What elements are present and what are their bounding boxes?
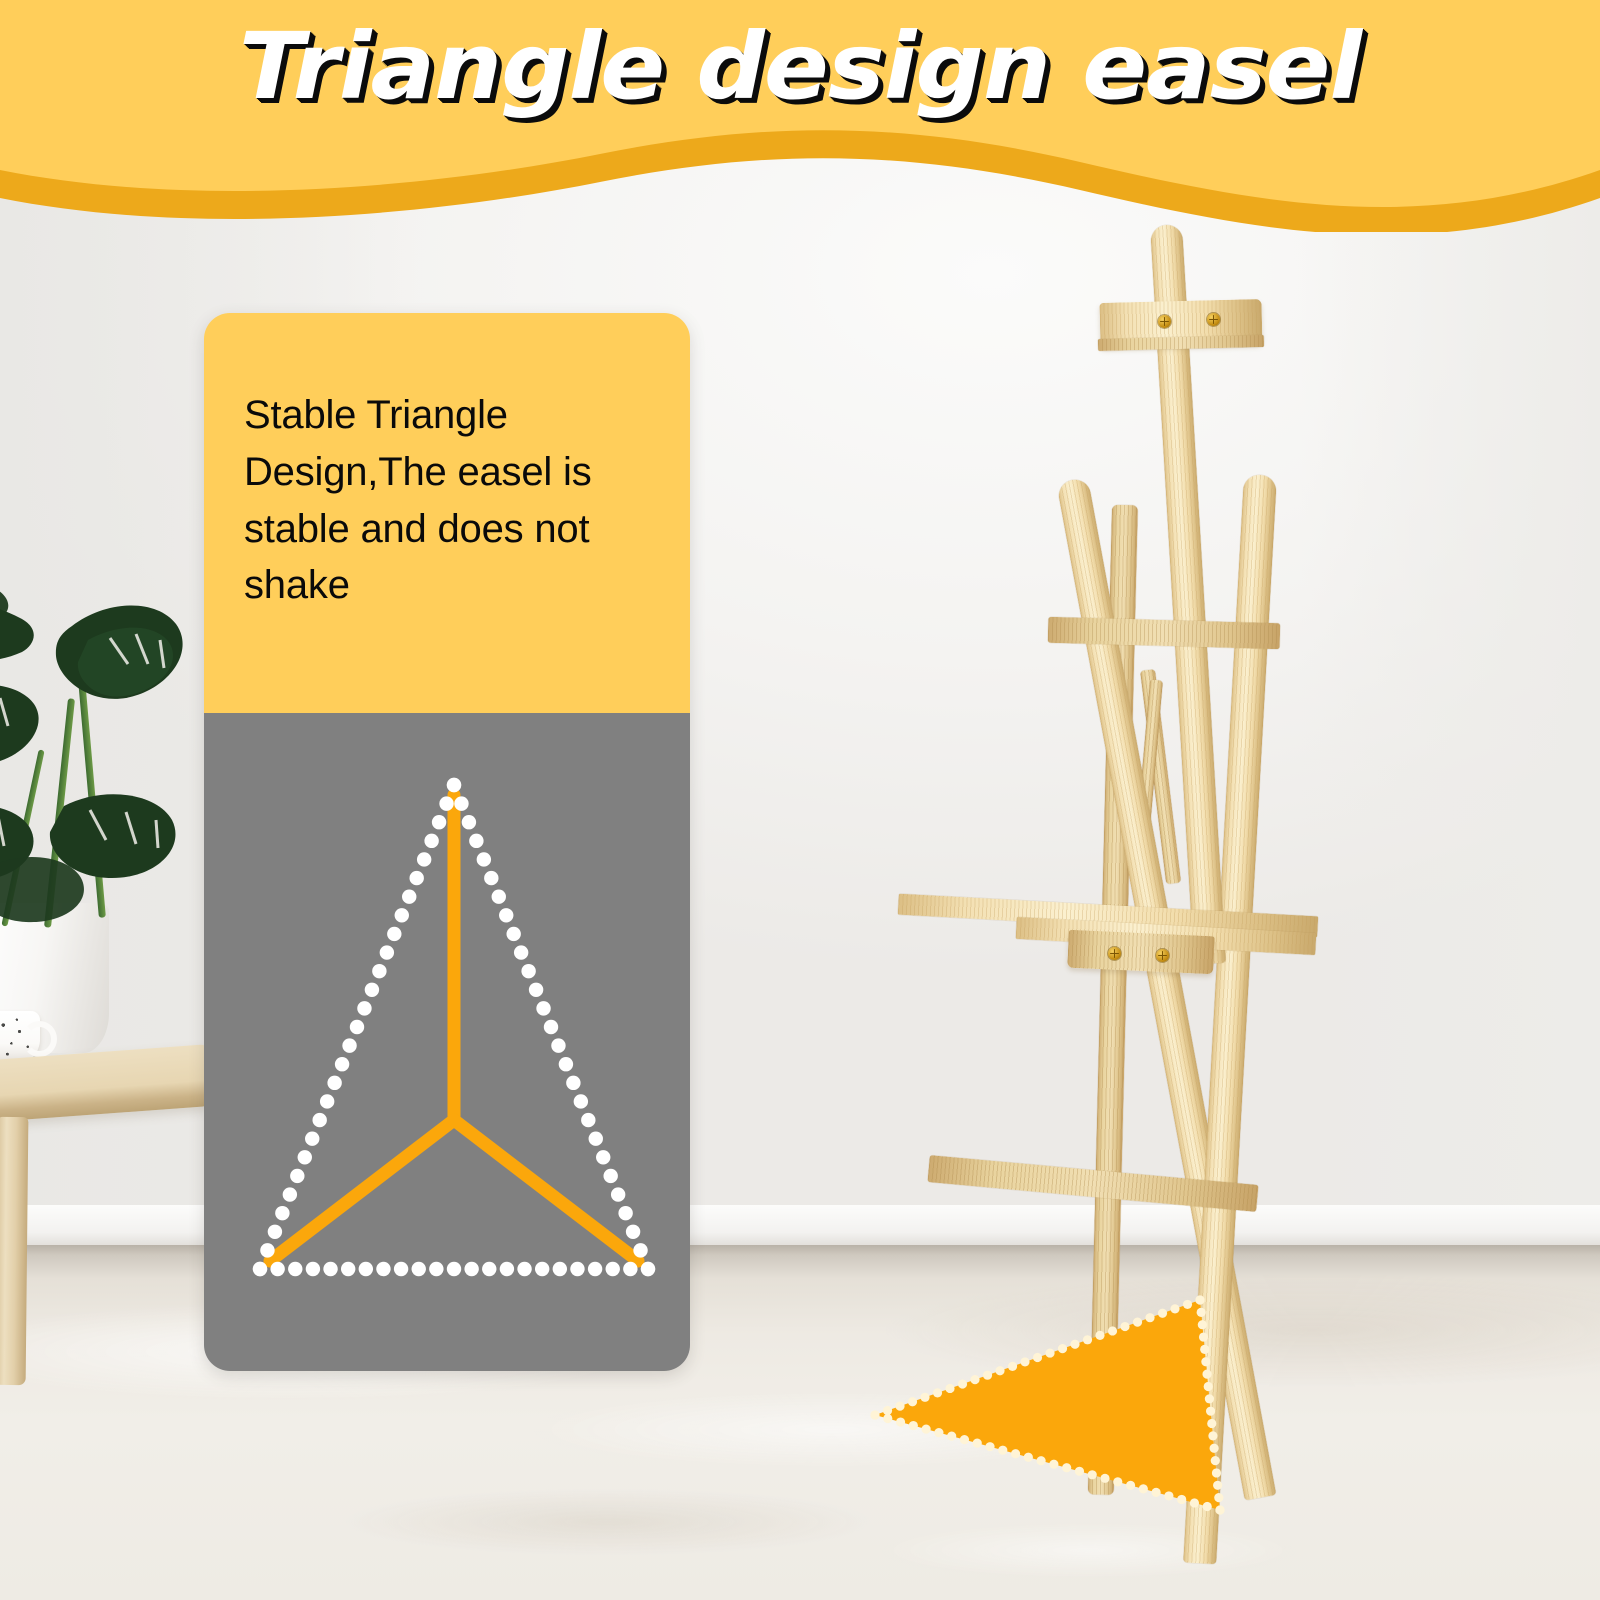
- upper-crossbar: [1048, 617, 1281, 649]
- feature-info-card: Stable Triangle Design,The easel is stab…: [204, 313, 690, 1371]
- diagram-panel: [204, 713, 690, 1371]
- tripod-stability-diagram: [204, 713, 690, 1371]
- header-banner: Triangle design easel: [0, 0, 1600, 230]
- clamp-screw: [1207, 313, 1220, 326]
- shelf-screw: [1156, 949, 1169, 962]
- table-top: [0, 1044, 210, 1128]
- tripod-legs: [270, 795, 638, 1261]
- page-title: Triangle design easel: [0, 13, 1600, 120]
- plant-leaves: [0, 548, 225, 1018]
- product-infographic: Stable Triangle Design,The easel is stab…: [0, 0, 1600, 1600]
- floor-stability-triangle: [820, 1270, 1380, 1560]
- wooden-coffee-table: [0, 1055, 210, 1385]
- shelf-screw: [1108, 947, 1121, 960]
- table-leg: [0, 1117, 28, 1385]
- monstera-plant: [0, 548, 225, 1018]
- feature-text-panel: Stable Triangle Design,The easel is stab…: [204, 313, 690, 713]
- canvas-shelf-block: [1067, 930, 1215, 975]
- feature-text: Stable Triangle Design,The easel is stab…: [244, 387, 650, 614]
- clamp-screw: [1158, 315, 1171, 328]
